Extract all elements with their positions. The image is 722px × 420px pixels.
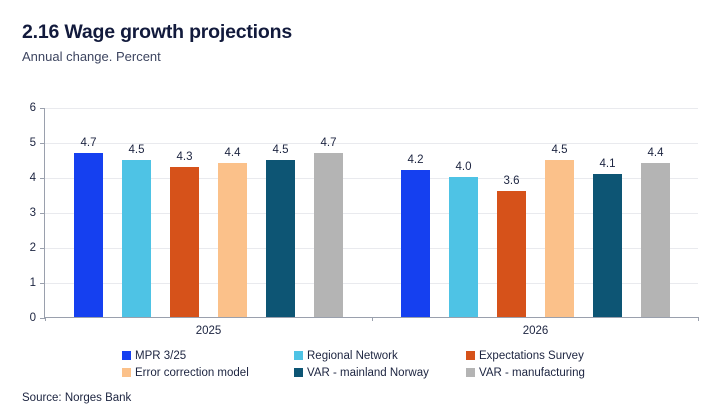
legend-item[interactable]: VAR - manufacturing [466, 367, 638, 379]
y-axis-tick-label: 2 [30, 242, 36, 254]
legend-item[interactable]: Expectations Survey [466, 350, 638, 362]
legend-item-label: Regional Network [307, 350, 398, 362]
bar-value-label: 4.1 [600, 158, 616, 170]
legend-item-label: Error correction model [135, 367, 249, 379]
chart-title: 2.16 Wage growth projections [22, 22, 702, 43]
bar: 4.4 [641, 163, 670, 317]
bar: 4.0 [449, 177, 478, 317]
bar: 4.5 [266, 160, 295, 318]
legend-item[interactable]: VAR - mainland Norway [294, 367, 466, 379]
chart-header: 2.16 Wage growth projections Annual chan… [22, 22, 702, 65]
plot-area: 0123456 4.74.54.34.44.54.74.24.03.64.54.… [44, 108, 698, 318]
bar-value-label: 4.7 [321, 137, 337, 149]
bar: 3.6 [497, 191, 526, 317]
legend-swatch-icon [294, 368, 303, 377]
legend-item[interactable]: MPR 3/25 [122, 350, 294, 362]
bar-value-label: 4.4 [225, 147, 241, 159]
bar-value-label: 4.4 [648, 147, 664, 159]
legend-swatch-icon [294, 351, 303, 360]
legend-swatch-icon [466, 368, 475, 377]
legend-item[interactable]: Error correction model [122, 367, 294, 379]
y-axis-tick-label: 0 [30, 312, 36, 324]
x-axis-tick-mark [372, 317, 373, 321]
bar: 4.7 [314, 153, 343, 318]
bar-value-label: 4.3 [177, 151, 193, 163]
bar: 4.3 [170, 167, 199, 318]
y-axis-tick-label: 1 [30, 277, 36, 289]
bar-value-label: 4.5 [273, 144, 289, 156]
source-note: Source: Norges Bank [22, 392, 131, 404]
y-axis-tick-label: 6 [30, 102, 36, 114]
bar: 4.5 [122, 160, 151, 318]
bar-value-label: 4.2 [408, 154, 424, 166]
chart-legend: MPR 3/25Regional NetworkExpectations Sur… [122, 347, 622, 381]
x-axis-group-label: 2026 [523, 325, 549, 337]
y-axis-tick-label: 5 [30, 137, 36, 149]
legend-item-label: VAR - manufacturing [479, 367, 585, 379]
bar: 4.1 [593, 174, 622, 318]
x-axis-tick-mark [45, 317, 46, 321]
y-axis-tick-label: 4 [30, 172, 36, 184]
y-axis-tick-label: 3 [30, 207, 36, 219]
bar-value-label: 4.5 [129, 144, 145, 156]
x-axis-group-label: 2025 [196, 325, 222, 337]
chart-subtitle: Annual change. Percent [22, 50, 702, 64]
bar-value-label: 4.7 [81, 137, 97, 149]
x-axis-tick-mark [698, 317, 699, 321]
legend-swatch-icon [122, 351, 131, 360]
legend-item[interactable]: Regional Network [294, 350, 466, 362]
legend-swatch-icon [122, 368, 131, 377]
bar: 4.5 [545, 160, 574, 318]
bar-value-label: 4.0 [456, 161, 472, 173]
bar: 4.4 [218, 163, 247, 317]
bar: 4.7 [74, 153, 103, 318]
legend-item-label: VAR - mainland Norway [307, 367, 429, 379]
legend-item-label: MPR 3/25 [135, 350, 186, 362]
legend-item-label: Expectations Survey [479, 350, 584, 362]
bar: 4.2 [401, 170, 430, 317]
legend-swatch-icon [466, 351, 475, 360]
bar-value-label: 4.5 [552, 144, 568, 156]
bars-layer: 4.74.54.34.44.54.74.24.03.64.54.14.4 [45, 108, 698, 317]
bar-value-label: 3.6 [504, 175, 520, 187]
